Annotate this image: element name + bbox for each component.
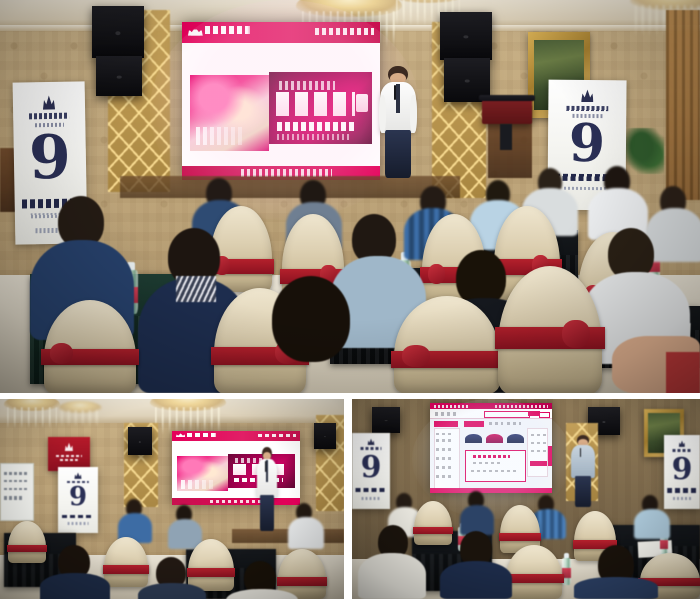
dashboard-left-row bbox=[436, 433, 454, 436]
roll-up-banner-left: 9 bbox=[58, 467, 98, 533]
screen-promo-panel bbox=[269, 72, 372, 143]
banner-subtitle bbox=[68, 522, 89, 525]
banquet-chair-with-red-sash bbox=[104, 537, 148, 587]
crystal-chandelier bbox=[150, 399, 226, 435]
banquet-chair-with-red-sash bbox=[8, 521, 46, 563]
presenter-with-microphone bbox=[378, 66, 418, 178]
banquet-chair-with-red-sash bbox=[498, 266, 602, 393]
audience-torso bbox=[138, 583, 206, 599]
crown-mark-icon bbox=[43, 95, 55, 110]
projection-screen-dashboard bbox=[430, 403, 552, 493]
banner-title bbox=[62, 515, 94, 519]
screen-brand-logo bbox=[176, 433, 220, 439]
chair-back bbox=[414, 501, 452, 545]
crown-mark-icon bbox=[188, 27, 203, 36]
audience-torso bbox=[646, 208, 700, 262]
line-array-speaker bbox=[372, 407, 400, 433]
screen-promo-footnote bbox=[277, 134, 349, 140]
screen-brand-name bbox=[187, 433, 217, 436]
banner-subtitle bbox=[362, 497, 381, 500]
dashboard-search-button[interactable] bbox=[528, 411, 540, 416]
banner-numeral-nine: 9 bbox=[664, 456, 700, 484]
screen-photo-watermark bbox=[181, 480, 213, 489]
screen-promo-badge bbox=[356, 94, 368, 113]
banquet-chair-with-red-sash bbox=[188, 539, 234, 591]
audience-torso bbox=[288, 517, 324, 549]
dashboard-side-button[interactable] bbox=[530, 461, 547, 466]
crown-mark-icon bbox=[176, 433, 186, 437]
dashboard-nav-bar[interactable] bbox=[430, 409, 552, 419]
crown-mark-icon bbox=[74, 472, 81, 479]
crown-mark-icon bbox=[679, 440, 685, 447]
potted-plant bbox=[624, 128, 664, 174]
audience-torso bbox=[440, 561, 512, 599]
banner-numeral-nine: 9 bbox=[58, 486, 98, 510]
line-array-speaker bbox=[314, 423, 336, 449]
presenter-arm bbox=[379, 95, 386, 133]
dashboard-top-bar-title bbox=[434, 405, 471, 408]
screen-header-tagline bbox=[315, 28, 374, 35]
chair-sash-knot bbox=[428, 264, 445, 284]
dashboard-center-tab-inactive[interactable] bbox=[489, 422, 504, 426]
presenter-trousers bbox=[575, 476, 592, 507]
presenter-tie bbox=[396, 84, 400, 113]
audience-torso bbox=[236, 348, 386, 393]
dashboard-callout-sub bbox=[473, 462, 500, 464]
dashboard-gauge-navy bbox=[465, 434, 482, 444]
banquet-chair-with-red-sash bbox=[394, 296, 500, 393]
chair-sash-knot bbox=[50, 343, 74, 364]
photo-collage: 9 9 bbox=[0, 0, 700, 599]
presenter-trousers bbox=[260, 495, 274, 531]
chair-sash-knot bbox=[562, 320, 589, 348]
roll-up-banner-left: 9 bbox=[352, 433, 390, 509]
dashboard-gauge-magenta bbox=[486, 434, 503, 444]
dashboard-nav-logo bbox=[435, 412, 457, 416]
line-array-speaker bbox=[128, 427, 152, 455]
presenter-arm bbox=[410, 95, 417, 133]
dashboard-left-row bbox=[436, 475, 454, 478]
stage-platform bbox=[120, 176, 460, 198]
whiteboard-text-line bbox=[4, 488, 29, 491]
line-array-speaker bbox=[92, 6, 144, 58]
roll-up-banner-right: 9 bbox=[664, 435, 700, 509]
presenter-with-microphone bbox=[256, 447, 278, 531]
chair-back bbox=[506, 545, 562, 599]
chandelier-crystals bbox=[7, 407, 56, 429]
chair-back bbox=[188, 539, 234, 591]
screen-model-photo bbox=[190, 75, 269, 151]
screen-brand-name bbox=[205, 26, 252, 33]
red-wall-sign bbox=[48, 437, 90, 471]
chair-sash bbox=[504, 574, 563, 583]
chair-sash bbox=[103, 565, 150, 574]
banquet-chair-with-red-sash bbox=[506, 545, 562, 599]
chair-back bbox=[210, 206, 272, 292]
screen-body bbox=[182, 43, 380, 166]
dashboard-footer-bar bbox=[430, 488, 552, 493]
presenter-trousers bbox=[385, 130, 411, 178]
dashboard-center-tab-inactive[interactable] bbox=[507, 422, 522, 426]
window-curtain bbox=[666, 10, 700, 200]
dashboard-search-input[interactable] bbox=[484, 411, 530, 418]
banner-subtitle bbox=[673, 497, 691, 500]
hero-photo: 9 9 bbox=[0, 0, 700, 393]
chair-sash bbox=[277, 577, 328, 586]
podium-stand bbox=[500, 124, 512, 150]
audience-torso bbox=[358, 553, 426, 599]
banquet-chair-with-red-sash bbox=[44, 300, 136, 393]
whiteboard bbox=[0, 463, 34, 521]
dashboard-callout-card bbox=[465, 450, 526, 483]
banquet-chair-with-red-sash bbox=[210, 206, 272, 292]
red-sign-line bbox=[60, 459, 78, 461]
screen-promo-headline bbox=[276, 92, 354, 116]
podium-top bbox=[479, 95, 535, 101]
audience-sleeve bbox=[666, 352, 700, 393]
presenter-shirt bbox=[571, 445, 595, 478]
whiteboard-text-line bbox=[4, 480, 27, 483]
banner-title bbox=[667, 488, 697, 492]
dashboard-login-button[interactable] bbox=[539, 412, 550, 418]
dashboard-left-row bbox=[436, 448, 454, 451]
chair-sash bbox=[187, 568, 236, 577]
presenter-with-microphone bbox=[570, 435, 596, 507]
dashboard-callout-note bbox=[471, 470, 518, 472]
line-array-speaker bbox=[96, 56, 142, 96]
screen-model-photo bbox=[177, 456, 228, 492]
screen-body bbox=[172, 441, 300, 499]
dashboard-left-row bbox=[436, 466, 454, 469]
dashboard-right-row bbox=[531, 450, 546, 453]
bottle-label bbox=[660, 540, 668, 548]
screen-header-bar bbox=[172, 431, 300, 441]
screen-brand-logo bbox=[188, 26, 255, 39]
screen-header-bar bbox=[182, 22, 380, 43]
audience-torso bbox=[634, 509, 670, 539]
thumbnail-left-photo: 9 bbox=[0, 399, 344, 599]
chair-sash bbox=[499, 533, 541, 541]
microphone bbox=[265, 461, 266, 472]
dashboard-left-tab[interactable] bbox=[434, 421, 458, 427]
chair-back bbox=[104, 537, 148, 587]
banner-numeral-nine: 9 bbox=[548, 120, 626, 169]
whiteboard-text-line bbox=[4, 496, 23, 500]
chandelier-crystals bbox=[61, 410, 100, 427]
lanyard bbox=[176, 276, 216, 302]
crystal-chandelier bbox=[4, 399, 60, 429]
chair-back bbox=[8, 521, 46, 563]
banner-title bbox=[355, 488, 386, 493]
dashboard-top-bar-right bbox=[495, 405, 549, 408]
dashboard-left-row bbox=[436, 457, 454, 460]
crystal-chandelier bbox=[58, 401, 102, 427]
screen-promo-kicker bbox=[279, 81, 335, 90]
projection-screen bbox=[172, 431, 300, 505]
thumbnail-right-photo: 9 9 bbox=[352, 399, 700, 599]
chair-sash-knot bbox=[402, 345, 430, 367]
banner-numeral-nine: 9 bbox=[352, 454, 390, 482]
screen-promo-phone bbox=[277, 122, 353, 131]
crown-mark-icon bbox=[368, 438, 375, 445]
microphone bbox=[580, 448, 581, 457]
dashboard-side-tab[interactable] bbox=[548, 446, 552, 466]
whiteboard-text-line bbox=[4, 472, 30, 475]
red-sign-line bbox=[56, 455, 82, 457]
audience-torso bbox=[40, 573, 110, 599]
line-array-speaker bbox=[440, 12, 492, 60]
projection-screen bbox=[182, 22, 380, 180]
banquet-chair-with-red-sash bbox=[414, 501, 452, 545]
screen-photo-watermark bbox=[196, 127, 245, 145]
dashboard-gauge-navy bbox=[507, 434, 524, 444]
dashboard-left-row bbox=[436, 439, 454, 442]
banner-company-name bbox=[29, 112, 69, 119]
dashboard-right-row bbox=[531, 442, 546, 445]
dashboard-center-tab[interactable] bbox=[464, 421, 484, 427]
audience-torso bbox=[574, 577, 658, 599]
dashboard-callout-title bbox=[473, 455, 509, 458]
microphone bbox=[394, 85, 396, 100]
crown-mark-icon bbox=[581, 89, 594, 102]
screen-footer-bar bbox=[172, 498, 300, 505]
presenter-tie bbox=[266, 460, 268, 482]
banner-company-name bbox=[566, 106, 608, 112]
wooden-podium bbox=[482, 98, 532, 124]
screen-header-tagline bbox=[258, 434, 296, 437]
chair-sash bbox=[413, 527, 453, 534]
chair-sash bbox=[7, 545, 47, 552]
dashboard-right-row bbox=[531, 434, 546, 437]
banner-numeral-nine: 9 bbox=[13, 130, 86, 186]
crown-mark-icon bbox=[65, 442, 73, 451]
